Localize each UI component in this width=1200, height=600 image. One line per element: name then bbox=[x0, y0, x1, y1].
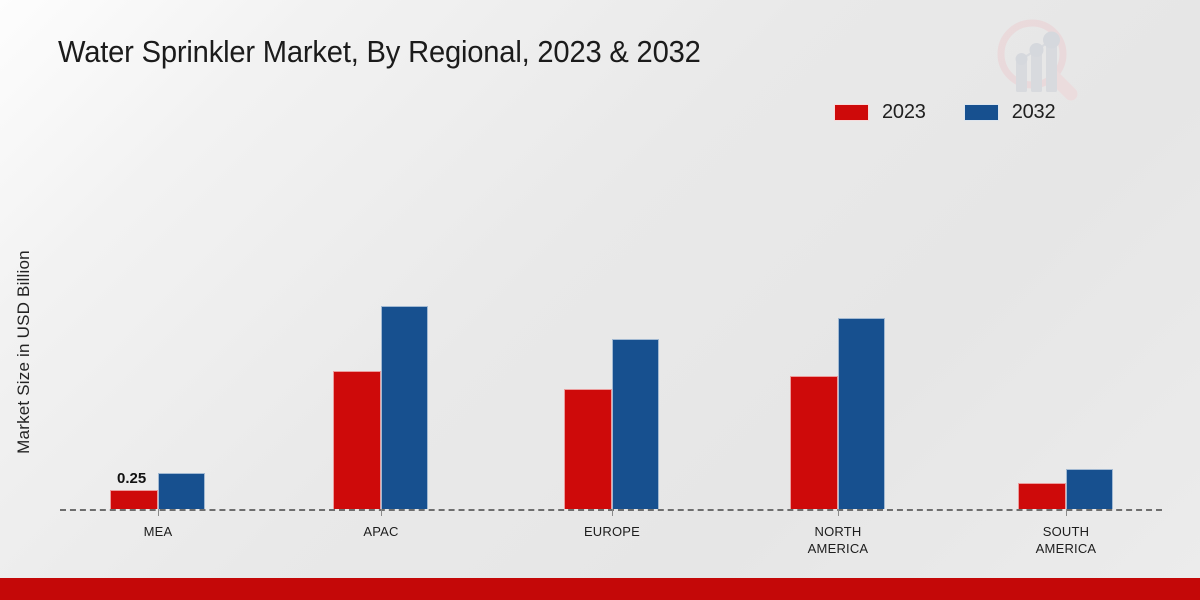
tick-north-america bbox=[838, 509, 839, 516]
tick-apac bbox=[381, 509, 382, 516]
bar-value-label-mea-2023: 0.25 bbox=[117, 470, 146, 487]
footer-accent-bar bbox=[0, 578, 1200, 600]
tick-europe bbox=[612, 509, 613, 516]
bar-north-america-2023[interactable] bbox=[790, 376, 838, 509]
bar-south-america-2032[interactable] bbox=[1066, 469, 1113, 509]
bar-south-america-2023[interactable] bbox=[1018, 483, 1066, 509]
x-axis-label-apac: APAC bbox=[331, 523, 431, 540]
tick-mea bbox=[158, 509, 159, 516]
x-axis-label-south-america: SOUTH AMERICA bbox=[1016, 523, 1116, 557]
bar-apac-2032[interactable] bbox=[381, 306, 428, 509]
plot-area: 0.25 MEA APAC EUROPE NORTH AMERICA SOUTH… bbox=[0, 0, 1200, 600]
bar-apac-2023[interactable] bbox=[333, 371, 381, 509]
chart-canvas: Water Sprinkler Market, By Regional, 202… bbox=[0, 0, 1200, 600]
tick-south-america bbox=[1066, 509, 1067, 516]
axis-baseline bbox=[60, 509, 1162, 511]
x-axis-label-north-america: NORTH AMERICA bbox=[788, 523, 888, 557]
bar-europe-2032[interactable] bbox=[612, 339, 659, 509]
x-axis-label-mea: MEA bbox=[108, 523, 208, 540]
bar-mea-2032[interactable] bbox=[158, 473, 205, 509]
bar-europe-2023[interactable] bbox=[564, 389, 612, 509]
x-axis-label-europe: EUROPE bbox=[562, 523, 662, 540]
bar-north-america-2032[interactable] bbox=[838, 318, 885, 509]
bar-mea-2023[interactable] bbox=[110, 490, 158, 509]
